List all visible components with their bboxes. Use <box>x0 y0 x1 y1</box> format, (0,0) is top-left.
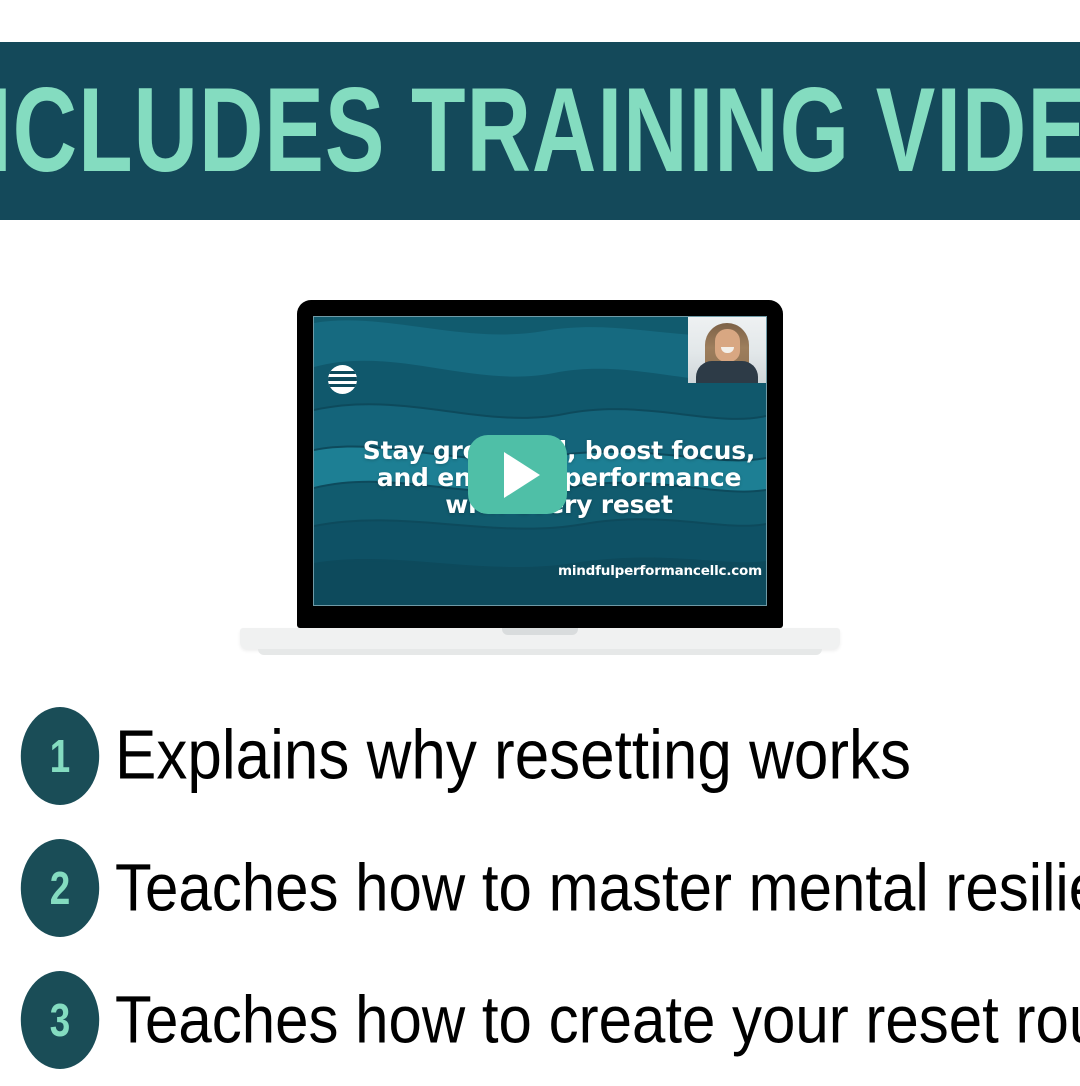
sun-horizon-logo-icon <box>328 365 357 394</box>
video-screen-content: Stay grounded, boost focus, and enhance … <box>314 317 766 605</box>
presenter-face <box>715 329 740 362</box>
laptop-mockup: Stay grounded, boost focus, and enhance … <box>0 236 1080 656</box>
play-button[interactable] <box>468 435 567 514</box>
list-item: 2 Teaches how to master mental resilienc… <box>0 822 1080 954</box>
feature-label: Teaches how to master mental resilience <box>115 854 1080 921</box>
presenter-torso <box>696 361 758 383</box>
logo-bar <box>328 384 357 387</box>
feature-number-badge: 1 <box>21 707 99 805</box>
play-triangle-icon <box>504 452 540 498</box>
laptop-base <box>240 628 840 649</box>
feature-list: 1 Explains why resetting works 2 Teaches… <box>0 690 1080 1086</box>
feature-label: Teaches how to create your reset routine <box>115 986 1080 1053</box>
feature-label: Explains why resetting works <box>115 721 911 790</box>
list-item: 3 Teaches how to create your reset routi… <box>0 954 1080 1086</box>
list-item: 1 Explains why resetting works <box>0 690 1080 822</box>
laptop-lid: Stay grounded, boost focus, and enhance … <box>297 300 783 628</box>
logo-bar <box>328 371 357 374</box>
website-url: mindfulperformancellc.com <box>558 563 762 579</box>
page-title: INCLUDES TRAINING VIDEO <box>0 74 1080 188</box>
header-banner: INCLUDES TRAINING VIDEO <box>0 42 1080 220</box>
logo-bar <box>328 377 357 381</box>
laptop-foot <box>258 649 822 655</box>
feature-number-badge: 2 <box>21 839 99 937</box>
video-player[interactable]: Stay grounded, boost focus, and enhance … <box>313 316 767 606</box>
presenter-webcam-thumbnail <box>688 317 766 383</box>
feature-number-badge: 3 <box>21 971 99 1069</box>
